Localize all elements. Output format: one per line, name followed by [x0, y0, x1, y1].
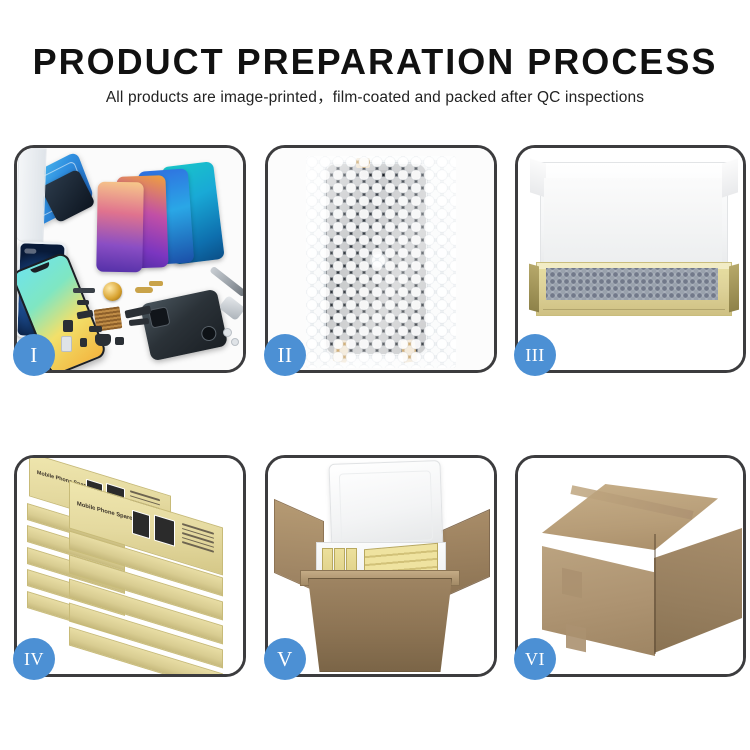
part-bracket-2 [77, 300, 89, 305]
part-connector-2 [63, 320, 73, 332]
step-badge-2: II [264, 334, 306, 376]
box-edge-right [729, 264, 739, 313]
carton-tape-patch-1 [562, 568, 582, 599]
process-step-card-4: Mobile Phone Spare Parts Mobile Phone Sp… [14, 455, 246, 677]
foam-lid-icon [328, 460, 443, 554]
step-badge-1: I [13, 334, 55, 376]
part-sim-tray-icon [61, 336, 72, 352]
part-screw-3 [223, 328, 232, 337]
part-screw-1 [80, 338, 87, 347]
step-badge-5: V [264, 638, 306, 680]
process-step-card-6: VI [515, 455, 746, 677]
lcd-backplate-icon [17, 148, 47, 242]
step-4-image: Mobile Phone Spare Parts Mobile Phone Sp… [17, 458, 243, 674]
process-step-card-2: II [265, 145, 497, 373]
bag-sheen-overlay [306, 156, 456, 368]
label-swatch-f1 [132, 510, 150, 540]
process-step-card-3: III [515, 145, 746, 373]
phone-icon-4 [96, 182, 144, 273]
gold-coil-icon [103, 282, 122, 301]
carton-vertical-edge [654, 534, 656, 654]
foam-sheet-icon [544, 178, 722, 266]
part-gold-flex-2 [149, 281, 163, 286]
step-badge-6: VI [514, 638, 556, 680]
part-bracket-1 [89, 326, 102, 332]
step-2-image [268, 148, 494, 370]
product-preparation-infographic: PRODUCT PREPARATION PROCESS All products… [0, 0, 750, 750]
box-edge-left [529, 264, 539, 313]
carton-tape-patch-2 [566, 624, 586, 653]
process-step-grid: I II [0, 0, 750, 750]
process-step-card-1: I [14, 145, 246, 373]
part-screw-2 [115, 337, 124, 345]
step-5-image [268, 458, 494, 674]
step-3-image [518, 148, 743, 370]
part-gold-flex-1 [135, 287, 153, 293]
part-screw-4 [231, 338, 239, 346]
carton-body-icon [308, 578, 452, 672]
step-badge-3: III [514, 334, 556, 376]
step-1-image [17, 148, 243, 370]
process-step-card-5: V [265, 455, 497, 677]
step-badge-4: IV [13, 638, 55, 680]
part-strip-1 [73, 288, 95, 293]
label-swatch-f2 [154, 514, 175, 546]
step-6-image [518, 458, 743, 674]
part-speaker-icon [95, 334, 111, 346]
bubble-wrapped-contents-icon [546, 268, 718, 300]
box-fold-line [543, 309, 725, 310]
label-textlines-front [182, 523, 214, 555]
